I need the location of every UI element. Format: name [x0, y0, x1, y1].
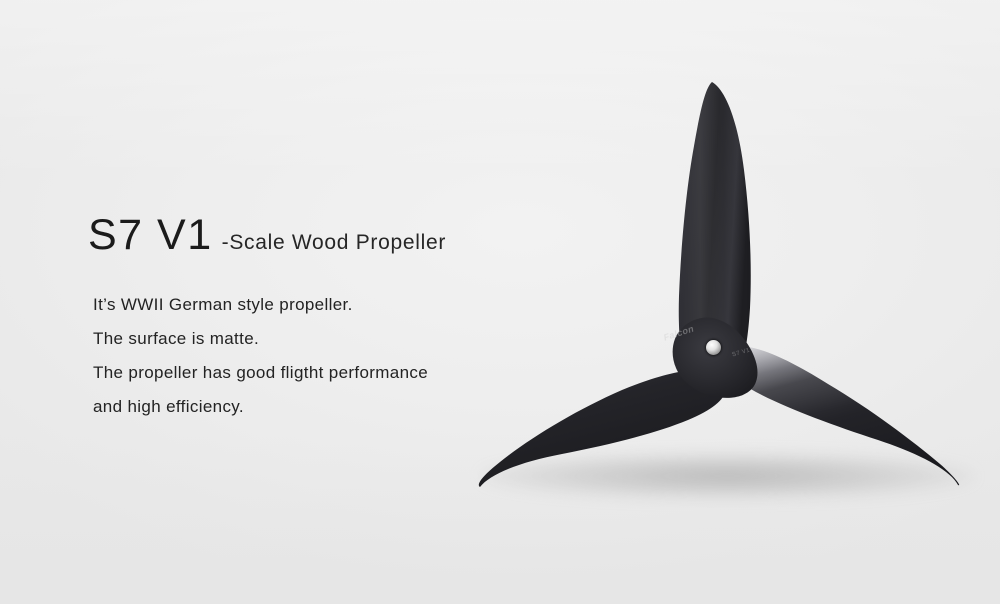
page-title: S7 V1 -Scale Wood Propeller — [88, 214, 508, 266]
hero-copy-block: S7 V1 -Scale Wood Propeller It’s WWII Ge… — [88, 214, 508, 424]
propeller-graphic — [450, 50, 1000, 550]
product-name: S7 V1 — [88, 214, 213, 257]
description-line: The surface is matte. — [93, 322, 508, 356]
description-line: The propeller has good fligtht performan… — [93, 356, 508, 390]
product-subtitle: -Scale Wood Propeller — [222, 232, 446, 253]
propeller-product-image: Falcon S7 V1 — [450, 50, 1000, 550]
propeller-blade-left — [479, 370, 726, 487]
propeller-blades — [479, 82, 959, 487]
description-line: and high efficiency. — [93, 390, 508, 424]
product-description-list: It’s WWII German style propeller. The su… — [93, 288, 508, 424]
propeller-blade-right-highlight — [724, 347, 959, 486]
hub-center-hole — [706, 340, 721, 355]
product-hero-page: S7 V1 -Scale Wood Propeller It’s WWII Ge… — [0, 0, 1000, 604]
description-line: It’s WWII German style propeller. — [93, 288, 508, 322]
